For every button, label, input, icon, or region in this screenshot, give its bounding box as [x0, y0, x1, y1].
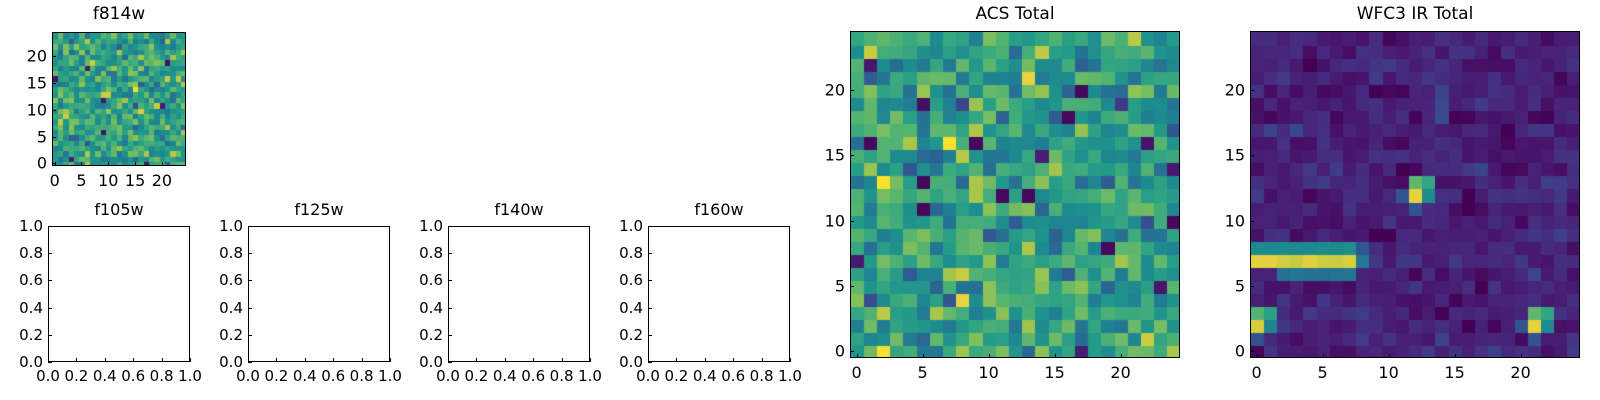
y-tick-label: 0.8 [600, 244, 643, 262]
y-tick-label: 0.0 [600, 353, 643, 371]
heatmap-wfc3-ir-total[interactable] [1250, 31, 1580, 358]
y-tick-label: 0.4 [600, 299, 643, 317]
y-tick-label: 0.4 [200, 299, 243, 317]
heatmap-canvas-f814w [53, 33, 186, 166]
subplot-acs-total: ACS Total 0510152005101520 [810, 0, 1190, 400]
subplot-f140w: f140w 0.00.20.40.60.81.00.00.20.40.60.81… [400, 195, 610, 400]
x-tick [590, 358, 591, 362]
x-tick-label: 0.6 [321, 367, 345, 385]
subplot-f125w: f125w 0.00.20.40.60.81.00.00.20.40.60.81… [200, 195, 410, 400]
x-tick-label: 1.0 [778, 367, 802, 385]
x-tick-label: 0.6 [521, 367, 545, 385]
x-tick-label: 5 [918, 363, 928, 382]
x-tick-label: 1.0 [178, 367, 202, 385]
x-tick [476, 358, 477, 362]
y-tick-label: 20 [802, 80, 845, 99]
y-tick [48, 335, 52, 336]
y-tick [1250, 90, 1254, 91]
x-tick [923, 354, 924, 358]
y-tick [648, 226, 652, 227]
x-tick-label: 15 [125, 171, 145, 190]
x-tick-label: 0 [852, 363, 862, 382]
y-tick-label: 0.6 [0, 271, 43, 289]
y-tick-label: 0.8 [400, 244, 443, 262]
y-tick-label: 0.4 [400, 299, 443, 317]
x-tick [676, 358, 677, 362]
x-tick [1389, 354, 1390, 358]
y-tick-label: 15 [802, 146, 845, 165]
x-tick [1257, 354, 1258, 358]
x-tick [105, 358, 106, 362]
y-tick-label: 20 [4, 47, 47, 66]
heatmap-acs-total[interactable] [850, 31, 1180, 358]
x-tick [1121, 354, 1122, 358]
y-tick [648, 335, 652, 336]
x-tick-label: 1.0 [578, 367, 602, 385]
x-tick-label: 0 [50, 171, 60, 190]
x-tick [790, 358, 791, 362]
y-tick [648, 280, 652, 281]
x-tick-label: 20 [1510, 363, 1530, 382]
empty-axes-f160w[interactable] [648, 226, 790, 362]
x-tick-label: 0.4 [93, 367, 117, 385]
x-tick [333, 358, 334, 362]
y-tick [850, 286, 854, 287]
x-tick [76, 358, 77, 362]
y-tick [850, 351, 854, 352]
y-tick [248, 226, 252, 227]
y-tick [248, 280, 252, 281]
y-tick [52, 110, 56, 111]
heatmap-f814w[interactable] [52, 32, 186, 166]
x-tick [533, 358, 534, 362]
y-tick [48, 280, 52, 281]
y-tick [850, 155, 854, 156]
y-tick-label: 0 [802, 342, 845, 361]
y-tick [52, 163, 56, 164]
y-tick-label: 1.0 [200, 217, 243, 235]
x-tick-label: 10 [98, 171, 118, 190]
x-tick-label: 5 [76, 171, 86, 190]
y-tick [648, 362, 652, 363]
y-tick-label: 0 [1202, 342, 1245, 361]
y-tick [850, 221, 854, 222]
empty-axes-f105w[interactable] [48, 226, 190, 362]
x-tick [1055, 354, 1056, 358]
y-tick-label: 10 [4, 100, 47, 119]
x-tick [989, 354, 990, 358]
empty-axes-f125w[interactable] [248, 226, 390, 362]
y-tick [448, 362, 452, 363]
y-tick [448, 308, 452, 309]
y-tick [48, 362, 52, 363]
y-tick [1250, 221, 1254, 222]
x-tick-label: 1.0 [378, 367, 402, 385]
x-tick [133, 358, 134, 362]
x-tick-label: 10 [1378, 363, 1398, 382]
y-tick-label: 15 [4, 73, 47, 92]
y-tick [448, 280, 452, 281]
plot-title-f125w: f125w [248, 200, 390, 219]
y-tick [648, 308, 652, 309]
subplot-f814w: f814w 0510152005101520 [0, 0, 210, 195]
x-tick-label: 0.8 [150, 367, 174, 385]
heatmap-canvas-wfc3-ir-total [1251, 32, 1580, 358]
x-tick [305, 358, 306, 362]
plot-title-f140w: f140w [448, 200, 590, 219]
x-tick [276, 358, 277, 362]
x-tick [108, 162, 109, 166]
x-tick-label: 15 [1044, 363, 1064, 382]
x-tick [162, 358, 163, 362]
y-tick-label: 0.0 [400, 353, 443, 371]
y-tick [448, 226, 452, 227]
x-tick [562, 358, 563, 362]
y-tick [448, 335, 452, 336]
y-tick [52, 56, 56, 57]
x-tick-label: 0.8 [750, 367, 774, 385]
y-tick-label: 0.0 [200, 353, 243, 371]
y-tick [1250, 286, 1254, 287]
y-tick [1250, 155, 1254, 156]
y-tick [248, 308, 252, 309]
y-tick-label: 0.2 [400, 326, 443, 344]
y-tick-label: 0.2 [0, 326, 43, 344]
y-tick-label: 10 [802, 211, 845, 230]
x-tick-label: 0.8 [350, 367, 374, 385]
x-tick-label: 0.2 [664, 367, 688, 385]
y-tick-label: 0 [4, 154, 47, 173]
y-tick [52, 137, 56, 138]
y-tick-label: 0.6 [400, 271, 443, 289]
y-tick-label: 1.0 [600, 217, 643, 235]
y-tick-label: 0.6 [200, 271, 243, 289]
y-tick [248, 335, 252, 336]
y-tick-label: 0.4 [0, 299, 43, 317]
x-tick-label: 0.2 [264, 367, 288, 385]
x-tick [1323, 354, 1324, 358]
x-tick-label: 0 [1252, 363, 1262, 382]
x-tick [1455, 354, 1456, 358]
x-tick-label: 20 [1110, 363, 1130, 382]
empty-axes-f140w[interactable] [448, 226, 590, 362]
x-tick-label: 0.6 [721, 367, 745, 385]
y-tick-label: 5 [4, 127, 47, 146]
y-tick [48, 253, 52, 254]
x-tick-label: 0.2 [64, 367, 88, 385]
subplot-wfc3-ir-total: WFC3 IR Total 0510152005101520 [1190, 0, 1600, 400]
x-tick-label: 5 [1318, 363, 1328, 382]
heatmap-canvas-acs-total [851, 32, 1180, 358]
y-tick-label: 15 [1202, 146, 1245, 165]
subplot-f105w: f105w 0.00.20.40.60.81.00.00.20.40.60.81… [0, 195, 210, 400]
subplot-f160w: f160w 0.00.20.40.60.81.00.00.20.40.60.81… [600, 195, 810, 400]
y-tick-label: 0.0 [0, 353, 43, 371]
y-tick [648, 253, 652, 254]
y-tick [52, 83, 56, 84]
y-tick-label: 0.8 [0, 244, 43, 262]
x-tick [857, 354, 858, 358]
x-tick [135, 162, 136, 166]
y-tick-label: 5 [802, 277, 845, 296]
x-tick [505, 358, 506, 362]
plot-title-f105w: f105w [48, 200, 190, 219]
y-tick [248, 362, 252, 363]
y-tick-label: 0.2 [600, 326, 643, 344]
y-tick [48, 226, 52, 227]
x-tick [190, 358, 191, 362]
matplotlib-figure: f814w 0510152005101520 f105w 0.00.20.40.… [0, 0, 1600, 400]
x-tick-label: 20 [152, 171, 172, 190]
y-tick [448, 253, 452, 254]
x-tick-label: 0.2 [464, 367, 488, 385]
y-tick-label: 10 [1202, 211, 1245, 230]
y-tick [850, 90, 854, 91]
y-tick-label: 0.2 [200, 326, 243, 344]
x-tick [362, 358, 363, 362]
x-tick [1521, 354, 1522, 358]
x-tick-label: 0.4 [293, 367, 317, 385]
x-tick [733, 358, 734, 362]
x-tick [705, 358, 706, 362]
x-tick-label: 10 [978, 363, 998, 382]
x-tick [162, 162, 163, 166]
y-tick-label: 1.0 [400, 217, 443, 235]
y-tick [248, 253, 252, 254]
x-tick-label: 0.6 [121, 367, 145, 385]
y-tick-label: 1.0 [0, 217, 43, 235]
y-tick-label: 5 [1202, 277, 1245, 296]
y-tick [1250, 351, 1254, 352]
plot-title-acs-total: ACS Total [850, 4, 1180, 24]
plot-title-f160w: f160w [648, 200, 790, 219]
x-tick-label: 0.8 [550, 367, 574, 385]
plot-title-wfc3-ir-total: WFC3 IR Total [1250, 4, 1580, 24]
x-tick [762, 358, 763, 362]
x-tick-label: 0.4 [693, 367, 717, 385]
y-tick-label: 0.8 [200, 244, 243, 262]
x-tick [390, 358, 391, 362]
y-tick-label: 20 [1202, 80, 1245, 99]
x-tick [81, 162, 82, 166]
x-tick-label: 15 [1444, 363, 1464, 382]
y-tick-label: 0.6 [600, 271, 643, 289]
plot-title-f814w: f814w [52, 4, 186, 24]
x-tick-label: 0.4 [493, 367, 517, 385]
y-tick [48, 308, 52, 309]
